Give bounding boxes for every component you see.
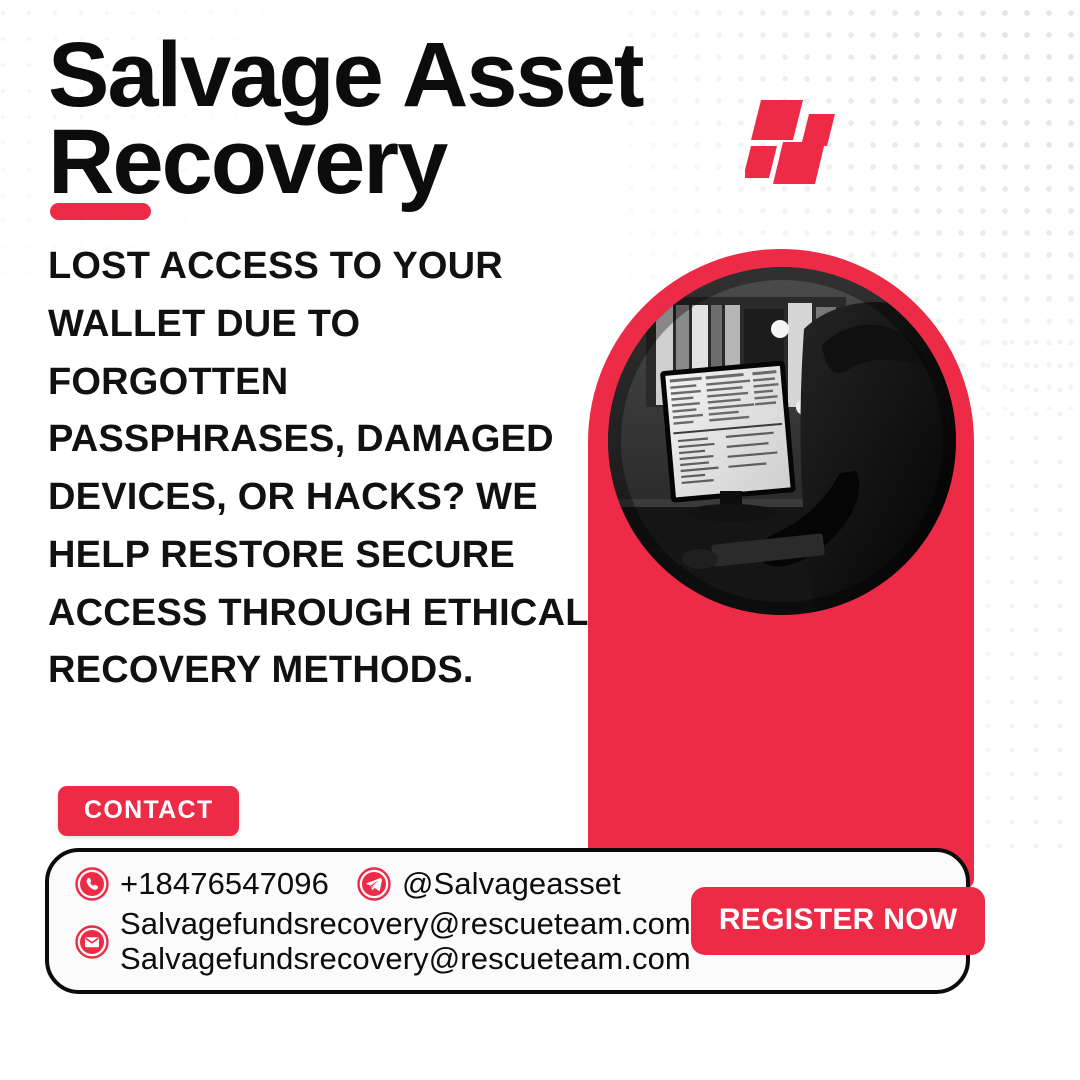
- body-paragraph: LOST ACCESS TO YOUR WALLET DUE TO FORGOT…: [48, 238, 596, 700]
- email-line-1[interactable]: Salvagefundsrecovery@rescueteam.com: [120, 907, 691, 942]
- phone-number[interactable]: +18476547096: [120, 866, 329, 902]
- brand-logo-icon: [745, 88, 841, 188]
- telegram-handle[interactable]: @Salvageasset: [402, 866, 621, 902]
- telegram-icon: [357, 867, 391, 901]
- contact-telegram-group[interactable]: @Salvageasset: [357, 866, 621, 902]
- email-icon: [75, 925, 109, 959]
- email-line-2[interactable]: Salvagefundsrecovery@rescueteam.com: [120, 942, 691, 977]
- register-now-button[interactable]: REGISTER NOW: [691, 887, 986, 955]
- title-underline-rule: [50, 203, 151, 220]
- email-addresses[interactable]: Salvagefundsrecovery@rescueteam.com Salv…: [120, 907, 691, 976]
- page-title: Salvage Asset Recovery: [48, 32, 748, 207]
- hero-photo: [608, 267, 956, 615]
- contact-row-email: Salvagefundsrecovery@rescueteam.com Salv…: [75, 907, 691, 976]
- phone-icon: [75, 867, 109, 901]
- contact-bar: +18476547096 @Salvageasset: [45, 848, 970, 994]
- contact-button[interactable]: CONTACT: [58, 786, 239, 836]
- poster-canvas: Salvage Asset Recovery LOST ACCESS TO YO…: [0, 0, 1080, 1080]
- contact-row-phone-telegram: +18476547096 @Salvageasset: [75, 866, 691, 902]
- contact-info-group: +18476547096 @Salvageasset: [49, 866, 691, 976]
